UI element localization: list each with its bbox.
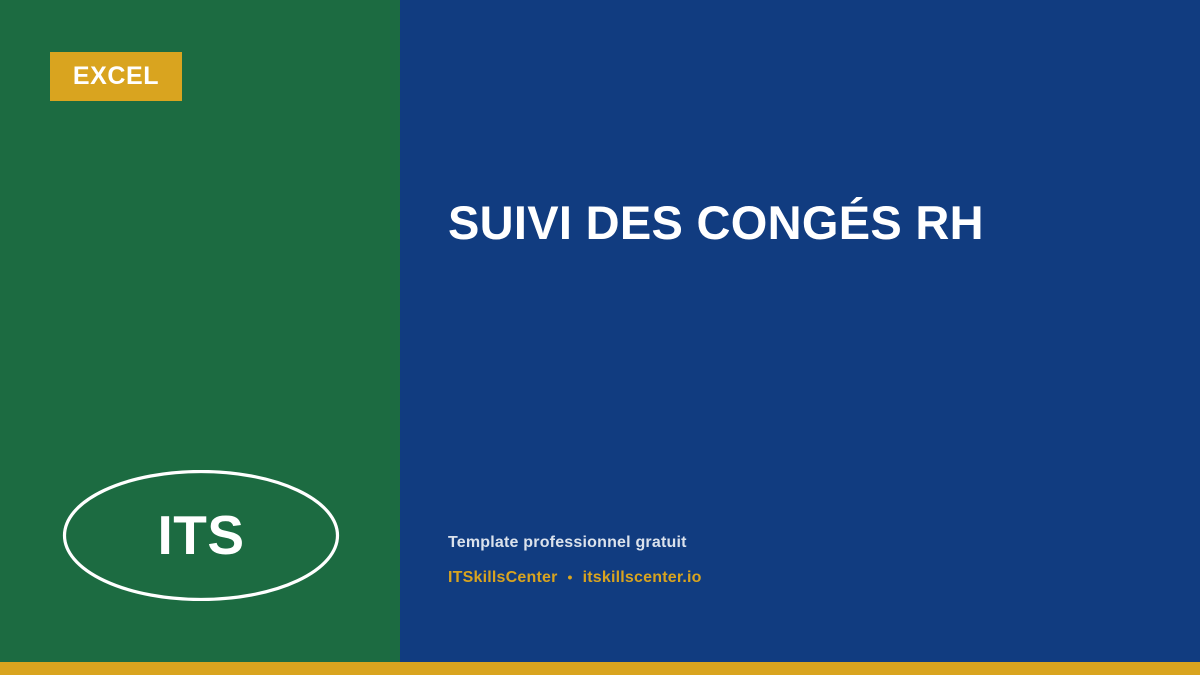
footer-tagline: Template professionnel gratuit — [448, 533, 1148, 552]
excel-badge-label: EXCEL — [73, 64, 159, 89]
its-logo-text: ITS — [62, 470, 340, 601]
bottom-accent-bar — [0, 662, 1200, 675]
page-title: SUIVI DES CONGÉS RH — [448, 196, 1148, 250]
footer-block: Template professionnel gratuit ITSkillsC… — [448, 533, 1148, 587]
bullet-separator-icon: • — [568, 569, 573, 586]
footer-brand-name: ITSkillsCenter — [448, 568, 558, 587]
slide-canvas: EXCEL ITS SUIVI DES CONGÉS RH Template p… — [0, 0, 1200, 675]
its-logo: ITS — [62, 470, 340, 601]
footer-website: itskillscenter.io — [583, 568, 702, 587]
footer-brand-line: ITSkillsCenter • itskillscenter.io — [448, 568, 1148, 587]
excel-badge: EXCEL — [50, 52, 182, 101]
